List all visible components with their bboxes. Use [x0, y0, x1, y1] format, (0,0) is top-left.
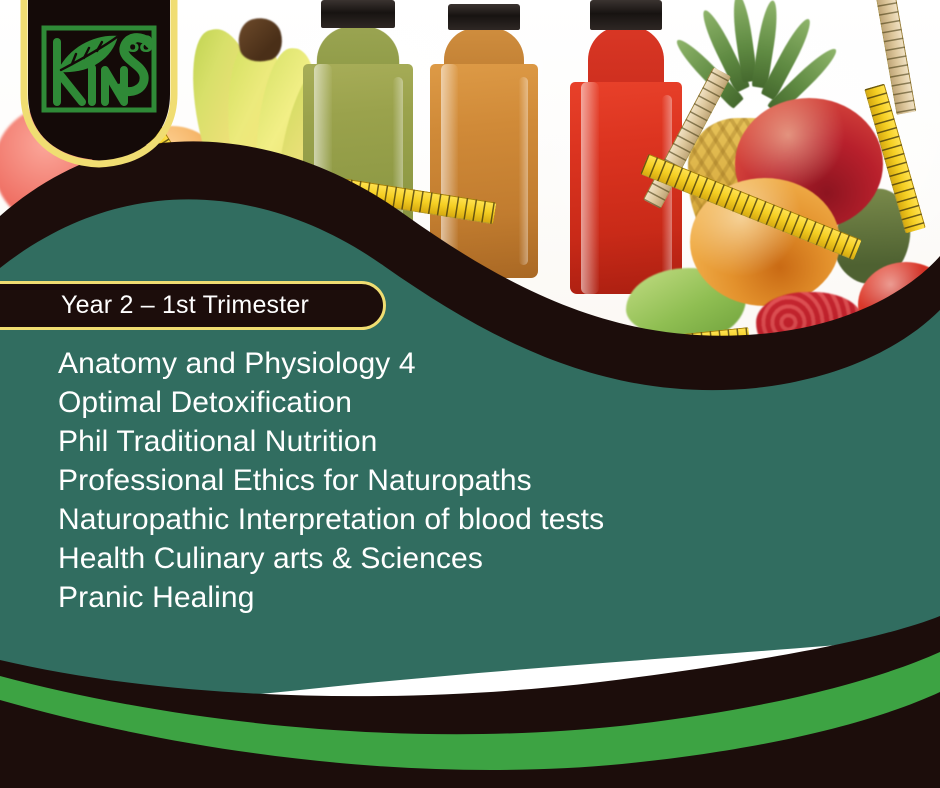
course-item: Optimal Detoxification — [58, 383, 818, 422]
course-item: Phil Traditional Nutrition — [58, 422, 818, 461]
kins-logo: 88 — [14, 0, 184, 170]
course-item: Anatomy and Physiology 4 — [58, 344, 818, 383]
course-list: Anatomy and Physiology 4 Optimal Detoxif… — [58, 344, 818, 617]
course-item: Health Culinary arts & Sciences — [58, 539, 818, 578]
poster-canvas: Year 2 – 1st Trimester Anatomy and Physi… — [0, 0, 940, 788]
trimester-badge-label: Year 2 – 1st Trimester — [61, 291, 309, 320]
course-item: Professional Ethics for Naturopaths — [58, 461, 818, 500]
trimester-badge: Year 2 – 1st Trimester — [0, 281, 386, 330]
course-item: Pranic Healing — [58, 578, 818, 617]
logo-year-88: 88 — [126, 31, 153, 58]
course-item: Naturopathic Interpretation of blood tes… — [58, 500, 818, 539]
